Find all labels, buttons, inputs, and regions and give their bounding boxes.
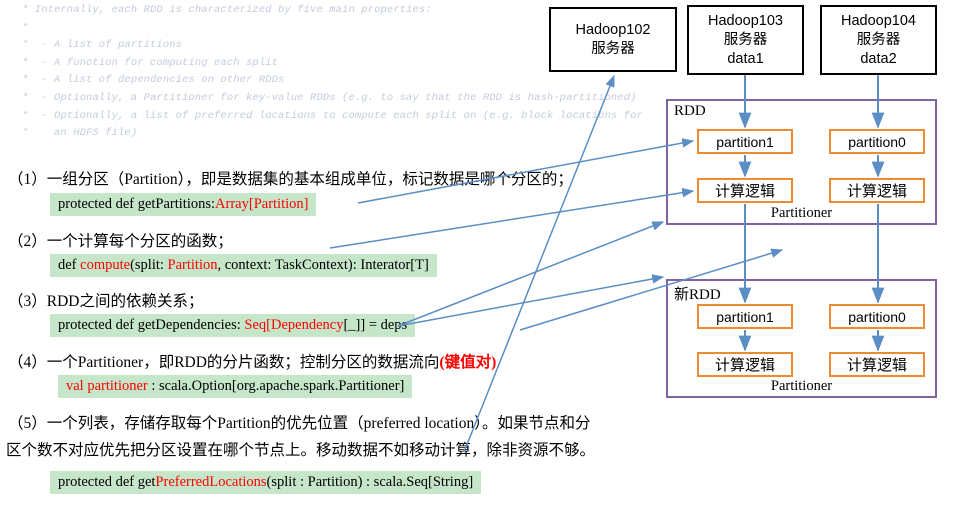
- server-box-hadoop102[interactable]: Hadoop102 服务器: [549, 7, 677, 72]
- logic-label: 计算逻辑: [847, 180, 907, 201]
- slide-canvas: * Internally, each RDD is characterized …: [0, 0, 954, 511]
- partition-label: partition0: [848, 134, 906, 150]
- comment-line: * - A list of partitions: [22, 37, 542, 55]
- server-name: Hadoop104: [841, 12, 916, 31]
- server-role: 服务器: [857, 31, 901, 50]
- partition-label: partition0: [848, 309, 906, 325]
- comment-line: * Internally, each RDD is characterized …: [22, 2, 542, 20]
- property-2-body: 一个计算每个分区的函数；: [47, 233, 233, 250]
- code-suffix: (split : Partition) : scala.Seq[String]: [267, 474, 474, 490]
- code-highlight: val partitioner: [66, 378, 148, 394]
- code-highlight: compute: [80, 257, 130, 273]
- logic-label: 计算逻辑: [847, 354, 907, 375]
- property-3-text: （3）RDD之间的依赖关系；: [8, 292, 204, 312]
- rdd-original-partition0[interactable]: partition0: [829, 129, 925, 154]
- arrow-compute-to-logic: [330, 191, 693, 248]
- code-val-partitioner: val partitioner : scala.Option[org.apach…: [58, 375, 412, 398]
- source-comment-block: * Internally, each RDD is characterized …: [22, 2, 542, 143]
- comment-line: * - Optionally, a Partitioner for key-va…: [22, 90, 542, 108]
- property-3-number: （3）: [8, 293, 47, 310]
- rdd-title: RDD: [674, 103, 706, 120]
- code-get-partitions: protected def getPartitions:Array[Partit…: [50, 193, 316, 216]
- comment-line: * - A list of dependencies on other RDDs: [22, 72, 542, 90]
- rdd-container-new[interactable]: 新RDD Partitioner: [666, 279, 937, 398]
- rdd-partitioner-label: Partitioner: [668, 205, 935, 222]
- partition-label: partition1: [716, 134, 774, 150]
- property-1-text: （1）一组分区（Partition），即是数据集的基本组成单位，标记数据是哪个分…: [8, 170, 573, 190]
- rdd-new-logic-left[interactable]: 计算逻辑: [697, 352, 793, 377]
- code-highlight-2: Partition: [168, 257, 218, 273]
- code-highlight: PreferredLocations: [155, 474, 266, 490]
- code-highlight: Array[Partition]: [215, 196, 308, 212]
- server-role: 服务器: [724, 31, 768, 50]
- comment-line: * an HDFS file): [22, 125, 542, 143]
- code-suffix: [_]] = deps: [343, 317, 407, 333]
- server-role: 服务器: [591, 40, 635, 59]
- rdd-original-logic-right[interactable]: 计算逻辑: [829, 178, 925, 203]
- comment-line: * - A function for computing each split: [22, 55, 542, 73]
- rdd-original-partition1[interactable]: partition1: [697, 129, 793, 154]
- property-5-text-line2: 区个数不对应优先把分区设置在哪个节点上。移动数据不如移动计算，除非资源不够。: [6, 441, 595, 461]
- code-prefix: def: [58, 257, 80, 273]
- property-4-emphasis: (键值对): [439, 354, 496, 371]
- comment-line: * - Optionally, a list of preferred loca…: [22, 108, 542, 126]
- property-5-number: （5）: [8, 415, 47, 432]
- property-5-body-2: 区个数不对应优先把分区设置在哪个节点上。移动数据不如移动计算，除非资源不够。: [6, 442, 595, 459]
- server-data: data1: [727, 50, 763, 69]
- property-4-number: （4）: [8, 354, 47, 371]
- arrow-getdependencies-to-new-rdd: [398, 277, 663, 326]
- property-4-body: 一个Partitioner，即RDD的分片函数；控制分区的数据流向: [47, 354, 440, 371]
- property-1-number: （1）: [8, 171, 47, 188]
- code-prefix: protected def get: [58, 474, 155, 490]
- property-2-number: （2）: [8, 233, 47, 250]
- server-box-hadoop104[interactable]: Hadoop104 服务器 data2: [820, 5, 937, 75]
- comment-line: *: [22, 20, 542, 38]
- rdd-new-partition0[interactable]: partition0: [829, 304, 925, 329]
- server-name: Hadoop102: [576, 21, 651, 40]
- property-2-text: （2）一个计算每个分区的函数；: [8, 232, 233, 252]
- property-5-body-1: 一个列表，存储存取每个Partition的优先位置（preferred loca…: [47, 415, 591, 432]
- property-1-body: 一组分区（Partition），即是数据集的基本组成单位，标记数据是哪个分区的；: [47, 171, 573, 188]
- property-3-body: RDD之间的依赖关系；: [47, 293, 204, 310]
- partition-label: partition1: [716, 309, 774, 325]
- code-suffix: , context: TaskContext): Interator[T]: [218, 257, 429, 273]
- rdd-container-original[interactable]: RDD Partitioner: [666, 99, 937, 225]
- code-prefix: protected def getDependencies:: [58, 317, 244, 333]
- server-name: Hadoop103: [708, 12, 783, 31]
- rdd-original-logic-left[interactable]: 计算逻辑: [697, 178, 793, 203]
- rdd-title: 新RDD: [674, 283, 721, 304]
- arrow-getdependencies-to-rdd: [398, 222, 663, 326]
- code-mid: (split:: [130, 257, 167, 273]
- rdd-new-partition1[interactable]: partition1: [697, 304, 793, 329]
- code-suffix: : scala.Option[org.apache.spark.Partitio…: [148, 378, 405, 394]
- code-highlight: Seq[Dependency: [244, 317, 343, 333]
- code-compute: def compute(split: Partition, context: T…: [50, 254, 437, 277]
- logic-label: 计算逻辑: [715, 354, 775, 375]
- code-prefix: protected def getPartitions:: [58, 196, 215, 212]
- logic-label: 计算逻辑: [715, 180, 775, 201]
- rdd-new-logic-right[interactable]: 计算逻辑: [829, 352, 925, 377]
- rdd-partitioner-label: Partitioner: [668, 378, 935, 395]
- property-5-text-line1: （5）一个列表，存储存取每个Partition的优先位置（preferred l…: [8, 414, 591, 434]
- code-get-preferred-locations: protected def getPreferredLocations(spli…: [50, 471, 481, 494]
- server-data: data2: [860, 50, 896, 69]
- code-get-dependencies: protected def getDependencies: Seq[Depen…: [50, 314, 415, 337]
- server-box-hadoop103[interactable]: Hadoop103 服务器 data1: [687, 5, 804, 75]
- property-4-text: （4）一个Partitioner，即RDD的分片函数；控制分区的数据流向(键值对…: [8, 353, 496, 373]
